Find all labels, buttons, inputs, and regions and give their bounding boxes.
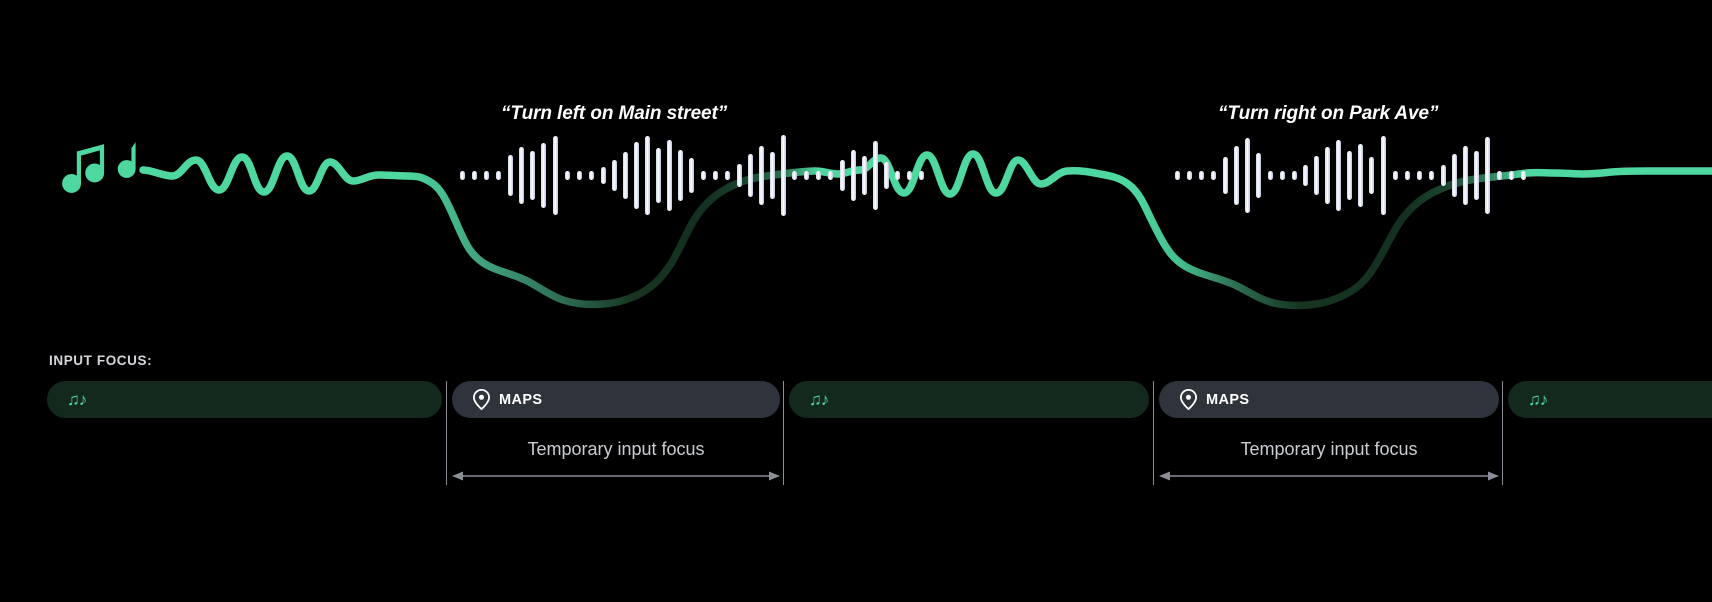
focus-segment-music-1[interactable]: ♫♪ [47, 381, 442, 418]
app-focus-pill-1[interactable]: MAPS [452, 381, 780, 418]
music-focus-pill-1[interactable]: ♫♪ [47, 381, 442, 418]
music-focus-pill-3[interactable]: ♫♪ [1508, 381, 1712, 418]
input-focus-label: INPUT FOCUS: [49, 353, 152, 368]
focus-segment-app-1[interactable]: MAPS Temporary input focus [452, 381, 780, 418]
temporary-focus-arrow-2 [1159, 469, 1499, 483]
segment-divider-4 [1502, 381, 1503, 485]
focus-segment-music-3[interactable]: ♫♪ [1508, 381, 1712, 418]
music-notes-icon: ♫♪ [809, 391, 828, 408]
speech-bars-group-1 [460, 135, 924, 216]
segment-divider-2 [783, 381, 784, 485]
segment-divider-3 [1153, 381, 1154, 485]
temporary-focus-label-1: Temporary input focus [452, 439, 780, 460]
focus-segment-app-2[interactable]: MAPS Temporary input focus [1159, 381, 1499, 418]
waveform-svg [0, 0, 1712, 330]
music-notes-icon [62, 142, 135, 193]
speech-caption-1: “Turn left on Main street” [501, 103, 727, 125]
input-focus-track: ♫♪ MAPS Temporary input focus [0, 381, 1712, 602]
map-pin-icon [473, 389, 490, 410]
diagram-canvas: “Turn left on Main street” “Turn right o… [0, 0, 1712, 602]
temporary-focus-arrow-1 [452, 469, 780, 483]
audio-waveform-area: “Turn left on Main street” “Turn right o… [0, 0, 1712, 330]
map-pin-icon [1180, 389, 1197, 410]
music-focus-pill-2[interactable]: ♫♪ [789, 381, 1149, 418]
speech-caption-2: “Turn right on Park Ave” [1218, 103, 1438, 125]
app-focus-pill-2[interactable]: MAPS [1159, 381, 1499, 418]
music-notes-icon: ♫♪ [67, 391, 86, 408]
music-notes-icon: ♫♪ [1528, 391, 1547, 408]
segment-divider-1 [446, 381, 447, 485]
focus-segment-music-2[interactable]: ♫♪ [789, 381, 1149, 418]
speech-bars-group-2 [1175, 136, 1526, 215]
app-focus-label-2: MAPS [1206, 392, 1250, 408]
temporary-focus-label-2: Temporary input focus [1159, 439, 1499, 460]
app-focus-label-1: MAPS [499, 392, 543, 408]
